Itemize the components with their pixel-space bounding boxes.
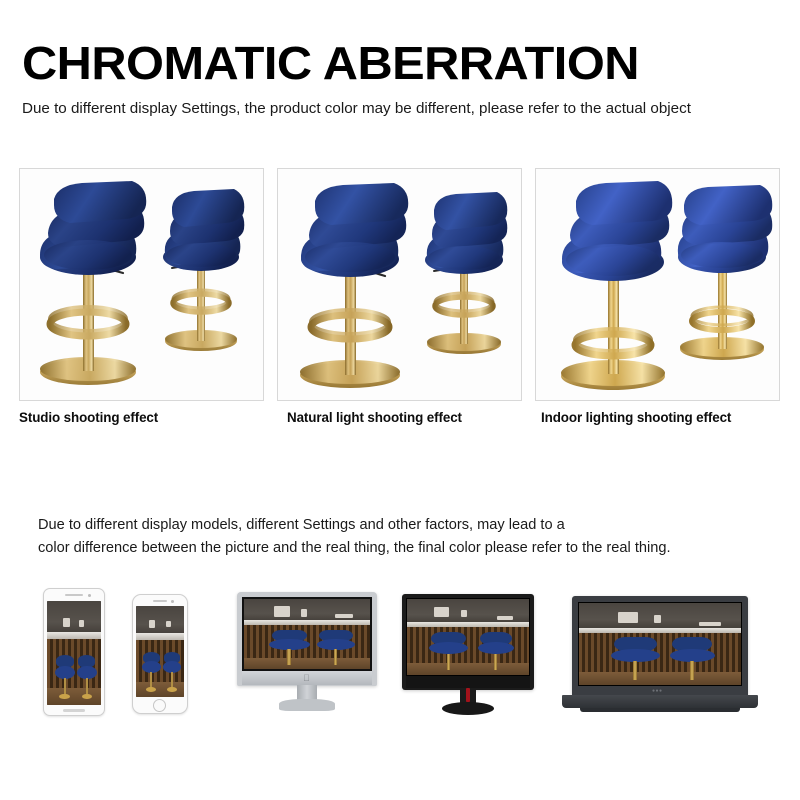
scene-floor bbox=[579, 672, 741, 685]
device-display-row:  bbox=[0, 578, 800, 728]
photo-studio-shooting bbox=[19, 168, 264, 401]
imac-screen bbox=[244, 599, 370, 669]
scene-object-c bbox=[699, 622, 721, 626]
iphone-screen bbox=[136, 606, 184, 697]
iphone-front-camera-icon bbox=[171, 600, 174, 603]
scene-object-a bbox=[63, 618, 70, 627]
imac-stand-foot bbox=[279, 699, 335, 711]
caption-studio: Studio shooting effect bbox=[19, 410, 264, 425]
android-nav-bar[interactable] bbox=[63, 709, 85, 712]
scene-object-a bbox=[274, 606, 290, 617]
scene-stool-right bbox=[77, 655, 96, 699]
scene-stool-right bbox=[163, 652, 181, 692]
device-imac:  bbox=[237, 592, 377, 717]
device-monitor bbox=[402, 594, 534, 718]
bottom-disclaimer-line-1: Due to different display models, differe… bbox=[38, 514, 786, 537]
bottom-disclaimer-line-2: color difference between the picture and… bbox=[38, 537, 786, 560]
top-disclaimer-text: Due to different display Settings, the p… bbox=[22, 100, 792, 117]
monitor-screen-frame bbox=[406, 598, 530, 676]
caption-indoor-lighting: Indoor lighting shooting effect bbox=[535, 410, 780, 425]
monitor-screen bbox=[407, 599, 529, 675]
scene-stool-left bbox=[429, 632, 468, 670]
scene-object-c bbox=[497, 616, 513, 620]
photo-natural-light-shooting bbox=[277, 168, 522, 401]
lighting-comparison-panels: Studio shooting effect bbox=[19, 168, 781, 425]
scene-object-b bbox=[301, 609, 307, 617]
panel-natural-light: Natural light shooting effect bbox=[277, 168, 522, 425]
scene-object-b bbox=[166, 621, 171, 627]
monitor-stand-foot bbox=[442, 702, 494, 715]
scene-stool-left bbox=[611, 637, 660, 680]
monitor-chin bbox=[406, 676, 530, 688]
device-laptop: ●●● bbox=[562, 596, 758, 716]
iphone-earpiece bbox=[153, 600, 167, 602]
page-title: CHROMATIC ABERRATION bbox=[22, 36, 639, 90]
scene-object-a bbox=[618, 612, 638, 623]
scene-stool-right bbox=[478, 632, 515, 670]
scene-object-a bbox=[149, 620, 155, 628]
laptop-base-deck bbox=[562, 695, 758, 708]
scene-object-c bbox=[335, 614, 353, 618]
laptop-screen-frame bbox=[578, 602, 742, 686]
laptop-foot bbox=[580, 708, 740, 712]
laptop-chin: ●●● bbox=[578, 686, 742, 695]
android-front-camera-icon bbox=[88, 594, 91, 597]
imac-chin:  bbox=[242, 671, 372, 685]
apple-logo-icon:  bbox=[303, 674, 310, 683]
scene-object-b bbox=[654, 615, 661, 623]
stool-pair-natural-illustration bbox=[278, 169, 522, 401]
laptop-screen bbox=[579, 603, 741, 685]
scene-object-a bbox=[434, 607, 449, 617]
laptop-brand-logo-icon: ●●● bbox=[652, 688, 663, 694]
bottom-disclaimer-text: Due to different display models, differe… bbox=[38, 514, 786, 559]
scene-object-b bbox=[79, 620, 84, 627]
scene-stool-right bbox=[670, 637, 715, 680]
scene-stool-left bbox=[142, 652, 161, 692]
scene-wall bbox=[47, 601, 101, 636]
scene-wall bbox=[136, 606, 184, 637]
scene-stool-right bbox=[317, 630, 355, 665]
stool-pair-studio-illustration bbox=[20, 169, 264, 401]
android-earpiece bbox=[65, 594, 83, 596]
device-android-phone bbox=[43, 588, 105, 716]
device-iphone bbox=[132, 594, 188, 714]
scene-stool-left bbox=[269, 630, 309, 665]
caption-natural-light: Natural light shooting effect bbox=[277, 410, 522, 425]
scene-object-b bbox=[461, 610, 467, 617]
panel-studio: Studio shooting effect bbox=[19, 168, 264, 425]
scene-counter bbox=[47, 632, 101, 639]
android-screen bbox=[47, 601, 101, 705]
scene-stool-left bbox=[55, 655, 76, 699]
photo-indoor-lighting-shooting bbox=[535, 168, 780, 401]
monitor-accent-stripe bbox=[466, 688, 470, 702]
iphone-home-button[interactable] bbox=[153, 699, 166, 712]
imac-screen-frame bbox=[242, 597, 372, 671]
panel-indoor-lighting: Indoor lighting shooting effect bbox=[535, 168, 780, 425]
stool-pair-indoor-illustration bbox=[536, 169, 780, 401]
